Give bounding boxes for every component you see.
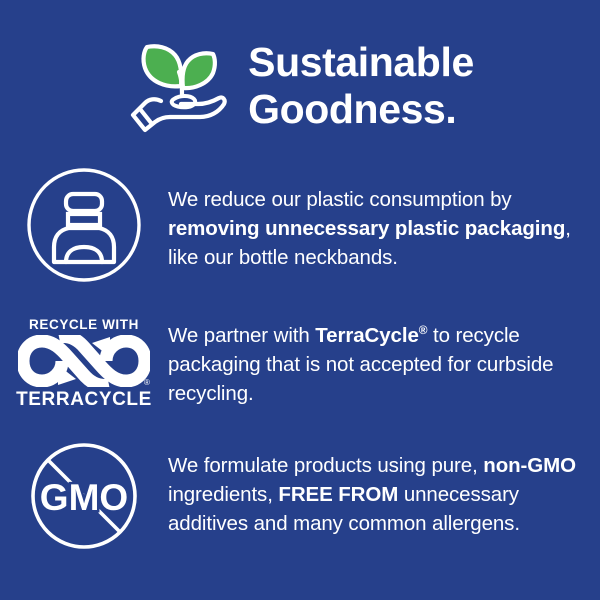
- sustainable-goodness-infographic: Sustainable Goodness.: [0, 0, 600, 600]
- header: Sustainable Goodness.: [0, 26, 600, 146]
- registered-mark: ®: [144, 378, 150, 387]
- feature-text-cell: We partner with TerraCycle® to recycle p…: [168, 294, 600, 408]
- feature-text-cell: We reduce our plastic consumption by rem…: [168, 163, 600, 272]
- feature-list: We reduce our plastic consumption by rem…: [0, 163, 600, 573]
- terracycle-top-label: RECYCLE WITH: [29, 317, 139, 332]
- feature-row-terracycle: RECYCLE WITH ® TERRACYCLE We partner wit…: [0, 294, 600, 433]
- gmo-label: GMO: [40, 477, 128, 518]
- plastic-bottle-circle-icon: [25, 166, 143, 284]
- feature-row-plastic: We reduce our plastic consumption by rem…: [0, 163, 600, 294]
- feature-text-gmo: We formulate products using pure, non-GM…: [168, 451, 582, 538]
- hand-holding-sprout-icon: [126, 38, 234, 138]
- no-gmo-icon: GMO: [28, 440, 140, 552]
- title-line-2: Goodness.: [248, 86, 474, 133]
- title-line-1: Sustainable: [248, 39, 474, 86]
- feature-text-terracycle: We partner with TerraCycle® to recycle p…: [168, 321, 582, 408]
- feature-text-plastic: We reduce our plastic consumption by rem…: [168, 185, 582, 272]
- feature-text-cell: We formulate products using pure, non-GM…: [168, 433, 600, 538]
- terracycle-bottom-label: TERRACYCLE: [16, 389, 152, 411]
- feature-icon-cell: RECYCLE WITH ® TERRACYCLE: [0, 294, 168, 433]
- feature-icon-cell: GMO: [0, 433, 168, 573]
- feature-icon-cell: [0, 163, 168, 294]
- terracycle-logo: RECYCLE WITH ® TERRACYCLE: [13, 317, 155, 411]
- infinity-recycle-icon: ®: [18, 335, 150, 387]
- feature-row-gmo: GMO We formulate products using pure, no…: [0, 433, 600, 573]
- page-title: Sustainable Goodness.: [248, 39, 474, 133]
